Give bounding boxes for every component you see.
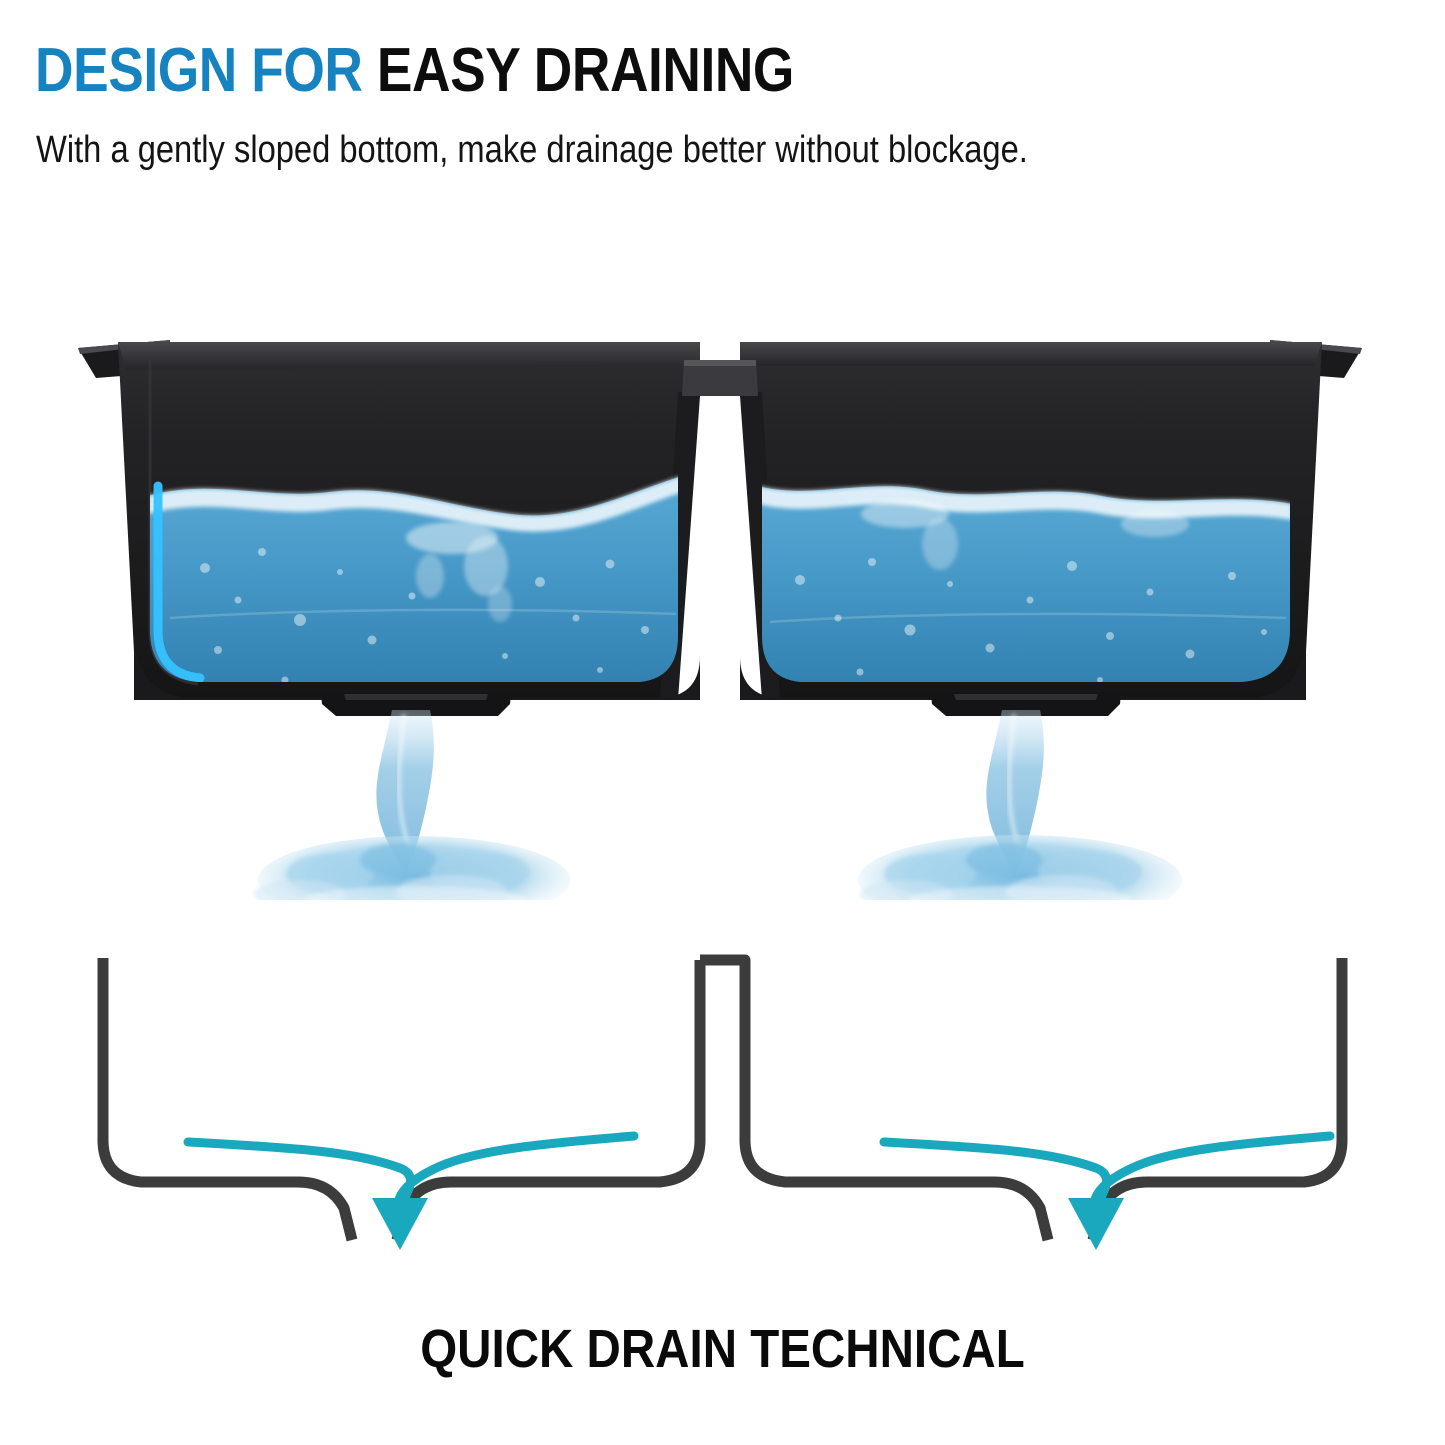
right-flow-line-b xyxy=(1094,1136,1330,1206)
left-drain-stream xyxy=(254,710,570,900)
right-basin-profile xyxy=(1093,958,1342,1240)
left-flow-arrow xyxy=(372,1198,428,1250)
page-title: DESIGN FOR EASY DRAINING xyxy=(35,38,794,103)
product-feature-page: DESIGN FOR EASY DRAINING With a gently s… xyxy=(0,0,1445,1445)
page-subtitle: With a gently sloped bottom, make draina… xyxy=(36,128,1028,174)
left-inner-profile xyxy=(397,960,700,1240)
right-water xyxy=(758,486,1292,700)
sink-photo xyxy=(0,300,1445,900)
right-water-body xyxy=(758,486,1292,700)
flow-arrowheads xyxy=(372,1198,1124,1250)
drain-schematic xyxy=(0,930,1445,1290)
left-water xyxy=(148,476,682,700)
basin-outline xyxy=(103,958,1342,1240)
left-flow-line-a xyxy=(188,1142,410,1206)
left-flow-line-b xyxy=(398,1136,634,1206)
sink-illustration xyxy=(0,300,1445,900)
left-drain-boss-highlight xyxy=(344,694,488,700)
headline-highlight: DESIGN FOR xyxy=(35,36,362,105)
divider-top-highlight xyxy=(684,360,756,366)
diagram-caption-text: QUICK DRAIN TECHNICAL xyxy=(420,1318,1025,1380)
right-drain-stream xyxy=(858,710,1182,900)
diagram-caption: QUICK DRAIN TECHNICAL xyxy=(0,1318,1445,1380)
headline-rest: EASY DRAINING xyxy=(377,36,794,105)
cross-section-diagram xyxy=(0,930,1445,1290)
left-bowl-rim xyxy=(118,342,700,370)
right-flow-line-a xyxy=(884,1142,1106,1206)
right-flow-arrow xyxy=(1068,1198,1124,1250)
right-bowl-rim xyxy=(740,342,1322,366)
divider-and-right-inner-profile xyxy=(700,960,1048,1240)
left-basin-profile xyxy=(103,958,352,1240)
right-drain-boss-highlight xyxy=(954,694,1098,700)
